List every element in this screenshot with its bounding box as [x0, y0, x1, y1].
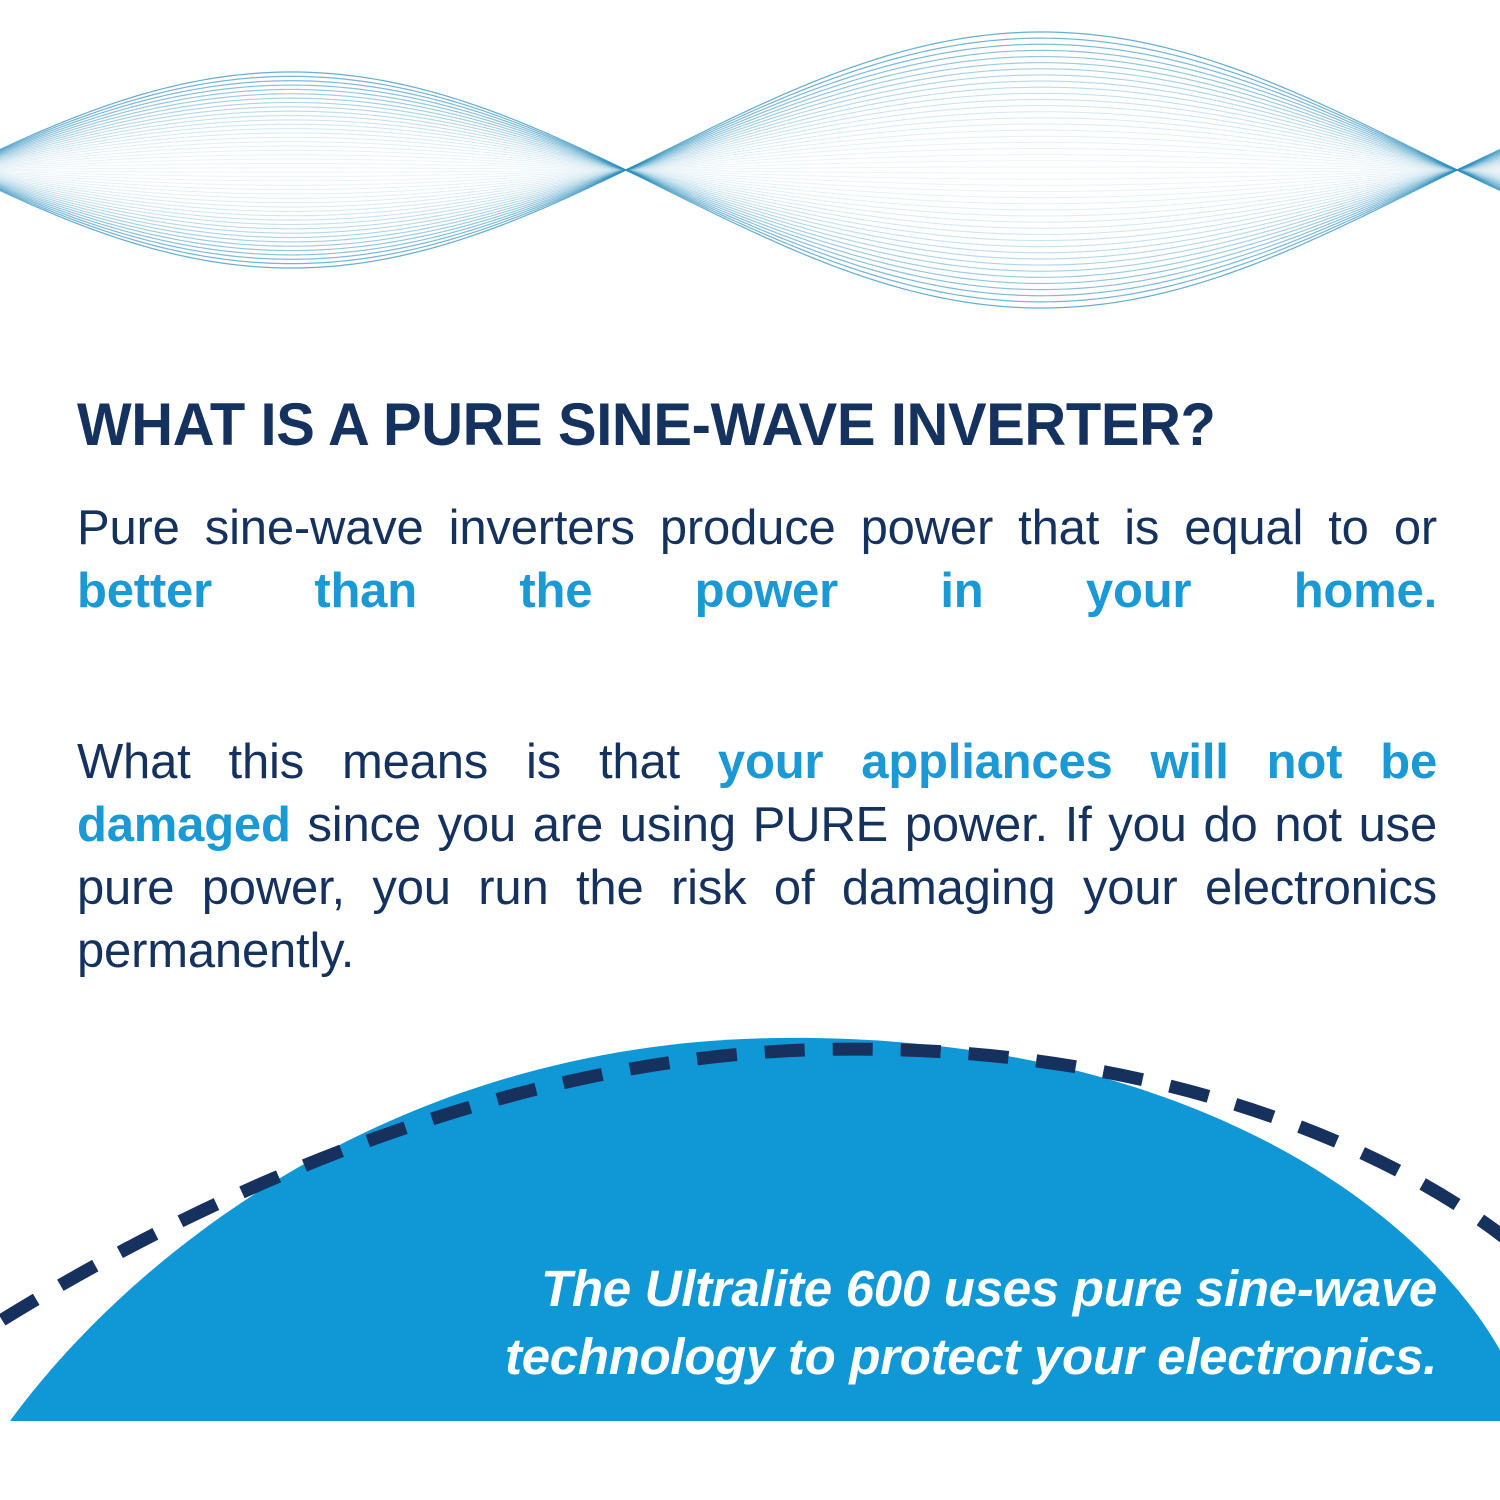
infographic-page: WHAT IS A PURE SINE-WAVE INVERTER? Pure …	[0, 0, 1500, 1500]
top-wave-decoration	[0, 0, 1500, 360]
caption-line-2: technology to protect your electronics.	[0, 1323, 1437, 1391]
body-paragraph-2: What this means is that your appliances …	[77, 731, 1437, 1047]
content-block: WHAT IS A PURE SINE-WAVE INVERTER? Pure …	[77, 394, 1437, 1047]
sine-wave-line-blend-icon	[0, 0, 1500, 360]
body-paragraph-1: Pure sine-wave inverters produce power t…	[77, 497, 1437, 687]
body-text-run: What this means is that	[77, 735, 718, 789]
caption-line-1: The Ultralite 600 uses pure sine-wave	[0, 1255, 1437, 1323]
highlighted-phrase: better than the power in your home.	[77, 564, 1437, 618]
body-text-run: Pure sine-wave inverters produce power t…	[77, 501, 1437, 555]
caption-text: The Ultralite 600 uses pure sine-wave te…	[0, 1255, 1437, 1392]
page-title: WHAT IS A PURE SINE-WAVE INVERTER?	[77, 394, 1389, 455]
